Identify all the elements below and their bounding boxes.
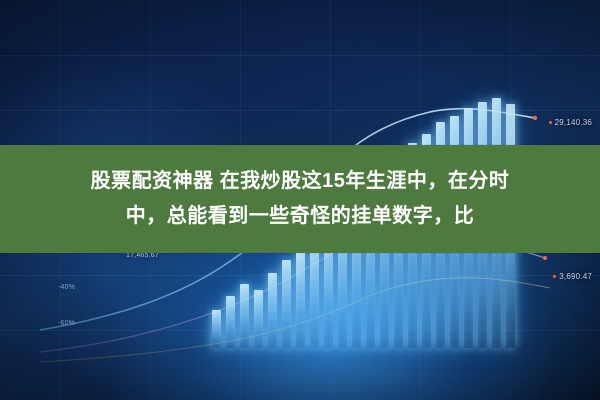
price-marker-dot [553, 275, 556, 278]
axis-label-1: -40% [58, 284, 75, 291]
price-label-low: 3,690.47 [553, 272, 592, 281]
caption-line-2: 中，总能看到一些奇怪的挂单数字，比 [126, 203, 475, 230]
screenshot-root: 29,140.36 3,690.47 17,465.67 -40% -60% 股… [0, 0, 600, 400]
price-label-mid: 17,465.67 [126, 252, 159, 259]
price-marker-dot [549, 121, 552, 124]
caption-line-1: 股票配资神器 在我炒股这15年生涯中，在分时 [91, 168, 510, 195]
caption-text: 股票配资神器 在我炒股这15年生涯中，在分时 中，总能看到一些奇怪的挂单数字，比 [0, 145, 600, 253]
axis-label-2: -60% [58, 320, 75, 327]
price-label-high: 29,140.36 [549, 118, 592, 127]
